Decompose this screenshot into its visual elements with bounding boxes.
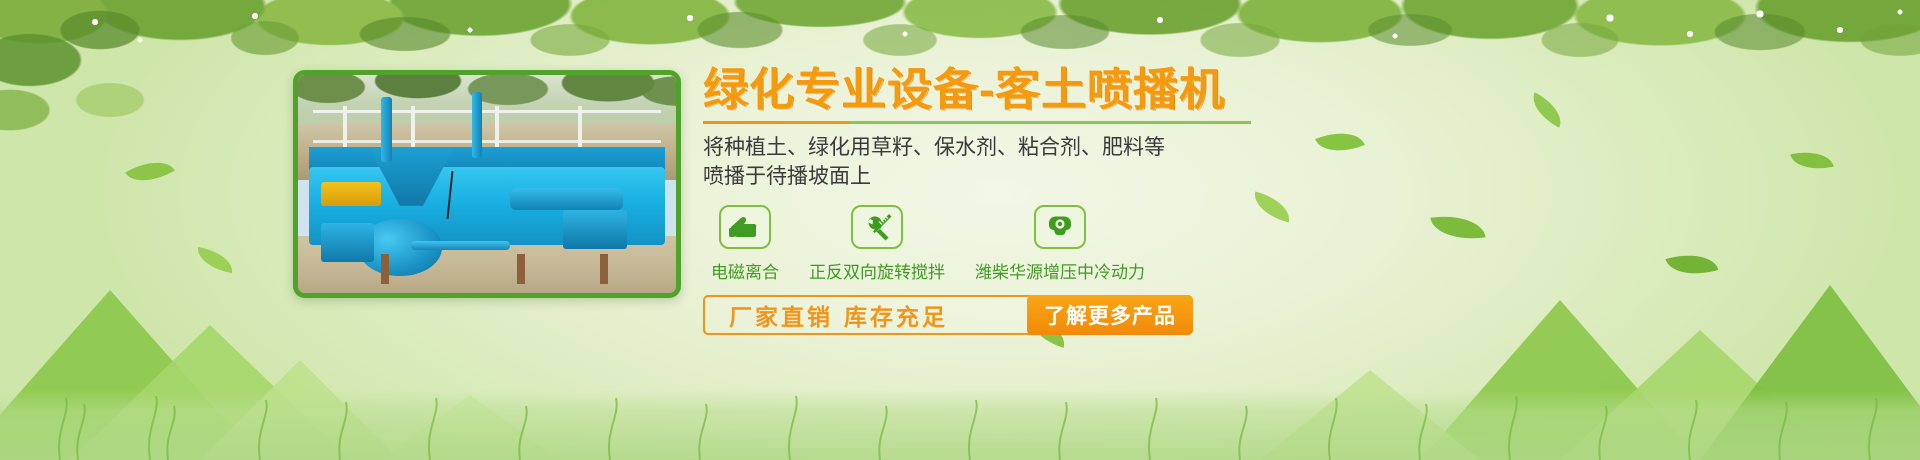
feature-item[interactable]: 正反双向旋转搅拌: [809, 205, 945, 283]
subtitle-line-2: 喷播于待播坡面上: [703, 162, 1403, 192]
learn-more-button-label: 了解更多产品: [1044, 300, 1176, 330]
feature-label: 潍柴华源增压中冷动力: [975, 258, 1145, 283]
engine-gear-icon: [1034, 205, 1086, 249]
left-corner-leaves-decoration: [0, 0, 300, 180]
wrench-screwdriver-icon: [851, 205, 903, 249]
grass-blades-decoration: [0, 370, 1920, 460]
subtitle-line-1: 将种植土、绿化用草籽、保水剂、粘合剂、肥料等: [703, 133, 1403, 163]
feature-label: 电磁离合: [711, 258, 779, 283]
feature-item[interactable]: 潍柴华源增压中冷动力: [975, 205, 1145, 283]
page-title: 绿化专业设备-客土喷播机: [703, 66, 1403, 115]
product-photo[interactable]: [293, 70, 681, 298]
feature-label: 正反双向旋转搅拌: [809, 258, 945, 283]
title-divider: [703, 121, 1251, 124]
cta-slogan: 厂家直销 库存充足: [705, 298, 948, 332]
promo-banner: 绿化专业设备-客土喷播机 将种植土、绿化用草籽、保水剂、粘合剂、肥料等 喷播于待…: [0, 0, 1920, 460]
floating-leaf-decoration: [1790, 146, 1833, 175]
banner-content: 绿化专业设备-客土喷播机 将种植土、绿化用草籽、保水剂、粘合剂、肥料等 喷播于待…: [703, 66, 1403, 335]
cta-bar: 厂家直销 库存充足 了解更多产品: [703, 295, 1193, 335]
feature-list: 电磁离合 正反双向旋转搅拌: [703, 205, 1403, 283]
thumbs-up-icon: [719, 205, 771, 249]
learn-more-button[interactable]: 了解更多产品: [1027, 295, 1193, 335]
feature-item[interactable]: 电磁离合: [711, 205, 779, 283]
